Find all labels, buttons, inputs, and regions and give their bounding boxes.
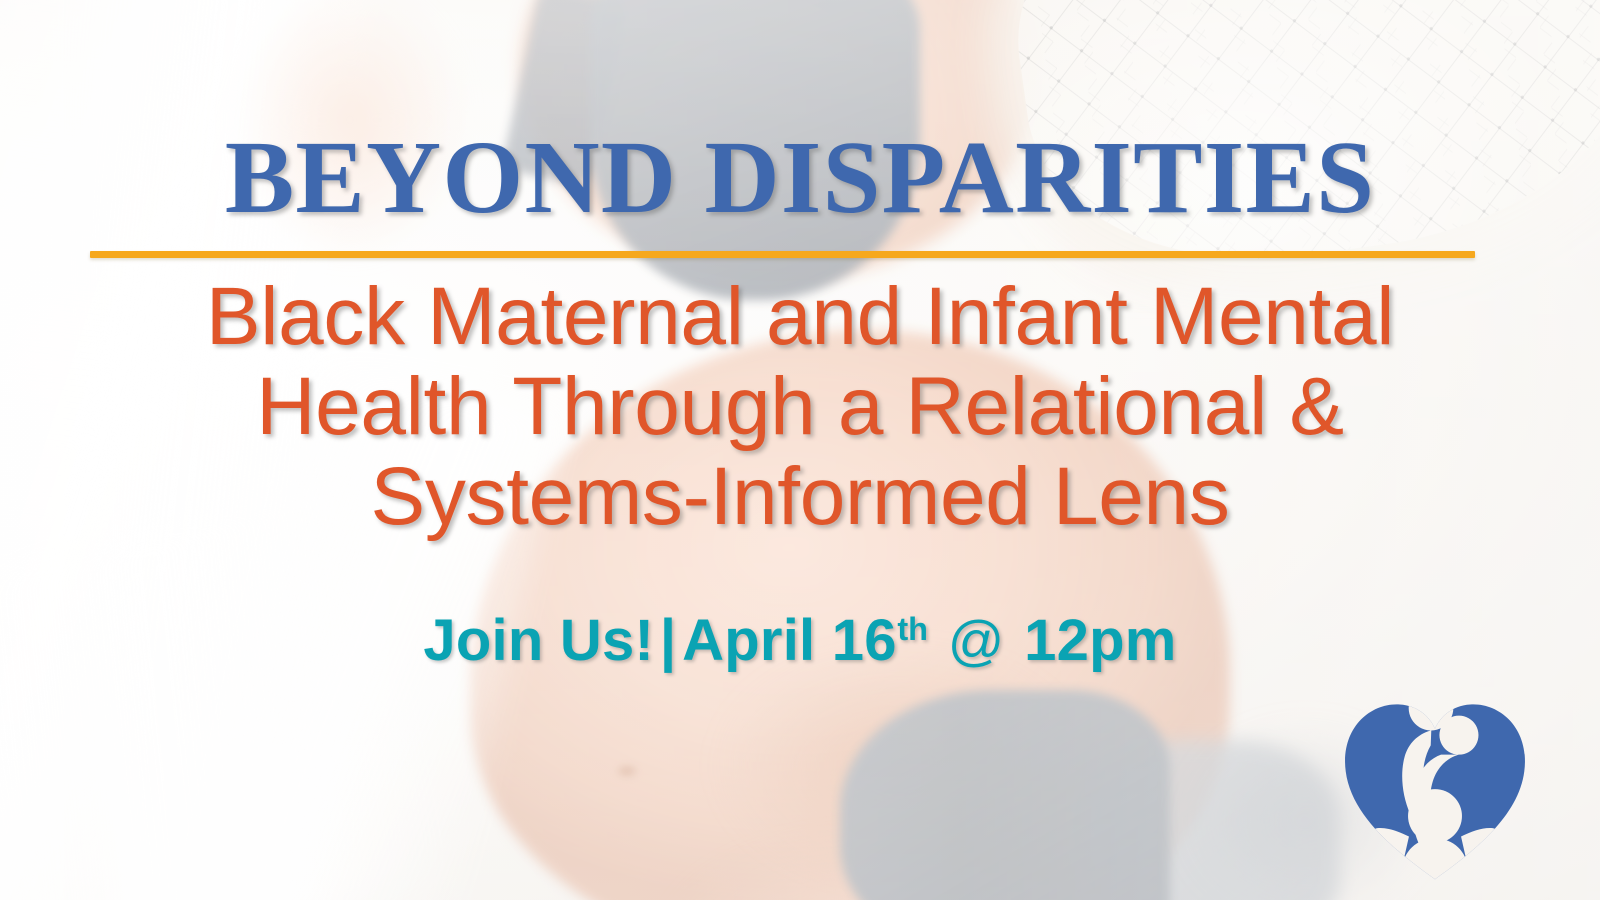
subtitle-line-1: Black Maternal and Infant Mental [60, 272, 1540, 362]
subtitle-line-2: Health Through a Relational & [60, 362, 1540, 452]
event-datetime-line: Join Us!|April 16th @ 12pm [0, 612, 1600, 670]
page-title: BEYOND DISPARITIES [0, 126, 1600, 230]
event-day: 16 [832, 608, 897, 673]
title-divider-rule [90, 251, 1475, 258]
event-month: April [682, 608, 815, 673]
flyer-content: BEYOND DISPARITIES Black Maternal and In… [0, 0, 1600, 900]
join-us-label: Join Us! [423, 608, 654, 673]
cta-separator: | [660, 608, 676, 673]
event-time: 12pm [1024, 608, 1176, 673]
event-flyer: BEYOND DISPARITIES Black Maternal and In… [0, 0, 1600, 900]
at-symbol: @ [948, 614, 1005, 670]
subtitle-line-3: Systems-Informed Lens [60, 452, 1540, 542]
event-day-suffix: th [897, 611, 928, 647]
subtitle: Black Maternal and Infant Mental Health … [60, 272, 1540, 543]
heart-family-logo [1342, 697, 1528, 883]
